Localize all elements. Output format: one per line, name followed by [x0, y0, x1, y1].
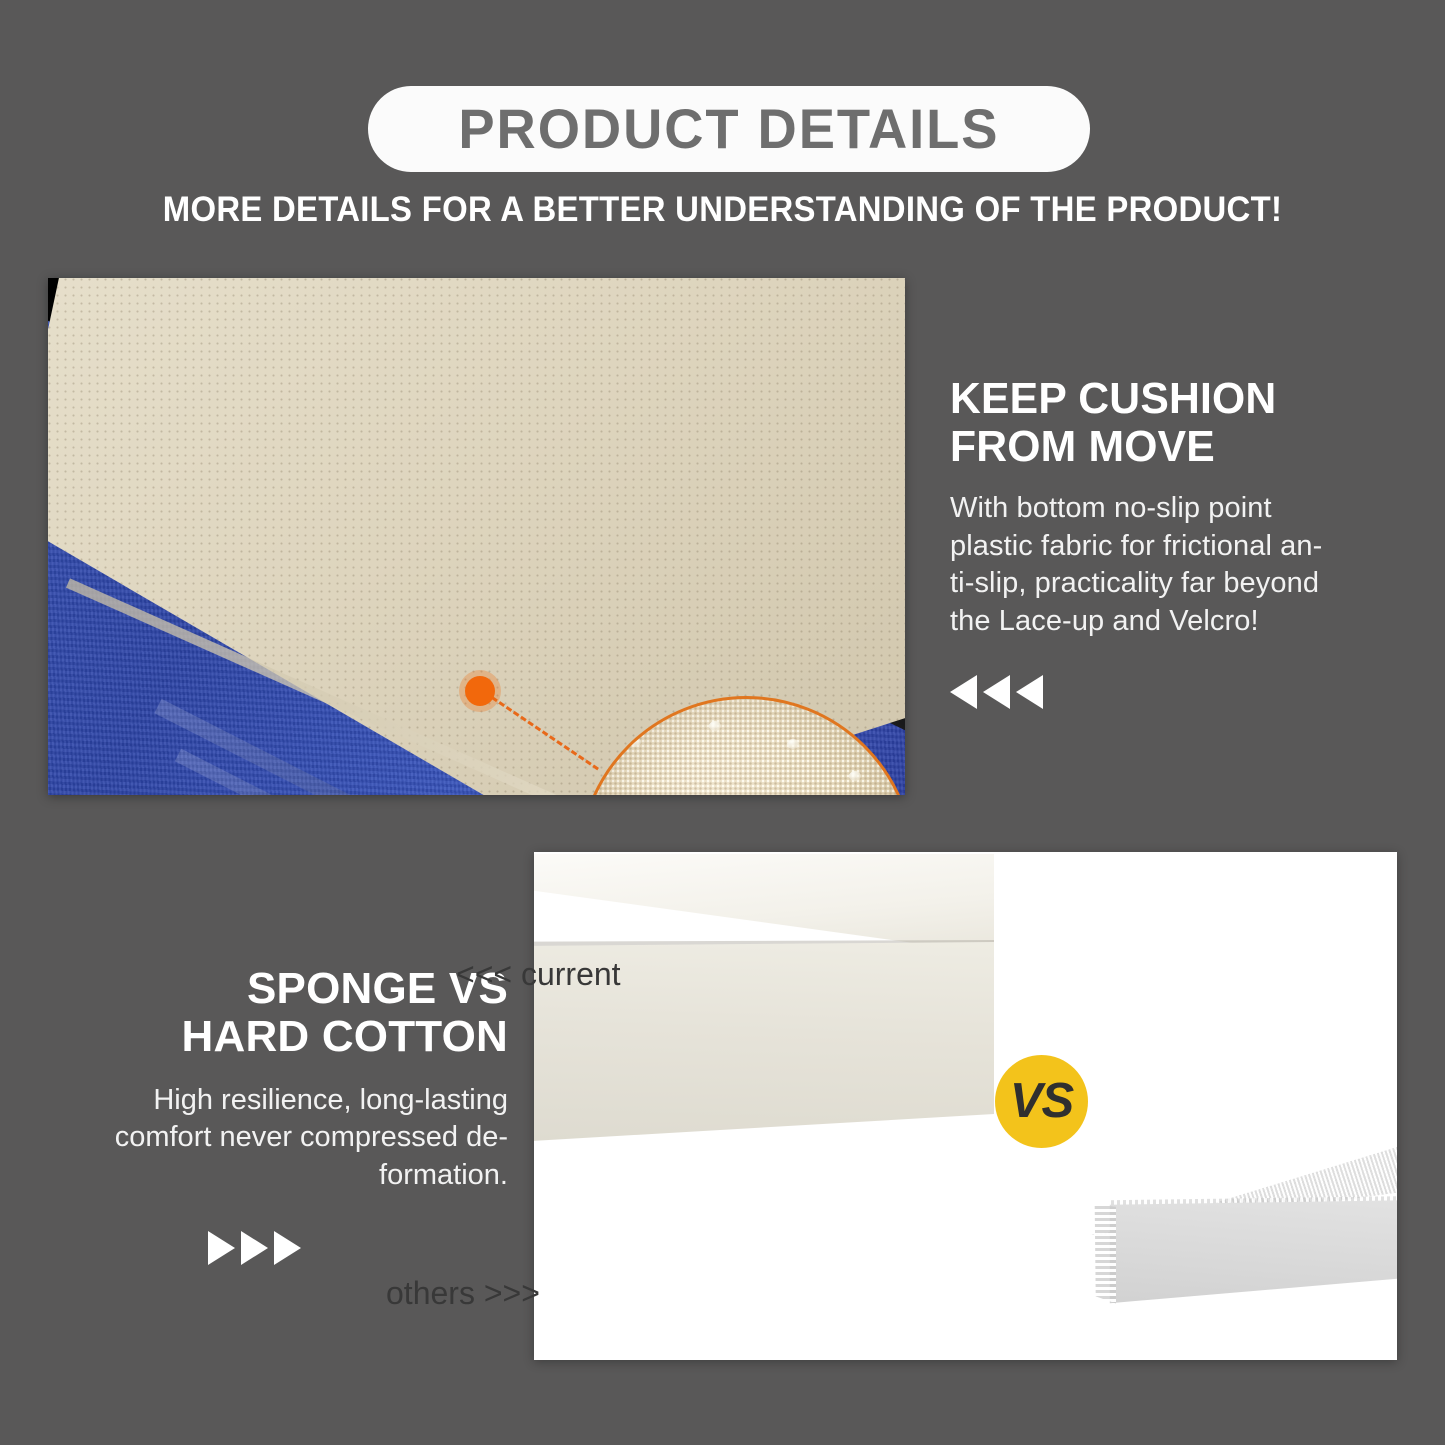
fabric-bump — [709, 721, 721, 731]
fabric-bump — [629, 737, 641, 747]
label-current: <<< current — [456, 956, 621, 993]
page-title-pill: PRODUCT DETAILS — [368, 86, 1090, 172]
section-body-line-2: plastic fabric for frictional an- — [950, 528, 1390, 566]
section-heading-line-1: KEEP CUSHION — [950, 375, 1377, 423]
callout-marker-dot-icon — [465, 676, 495, 706]
section-keep-cushion-from-move: KEEP CUSHION FROM MOVE With bottom no-sl… — [950, 375, 1390, 709]
product-details-infographic: PRODUCT DETAILS MORE DETAILS FOR A BETTE… — [0, 0, 1445, 1445]
fabric-bump — [787, 739, 799, 749]
section-body-line-2: comfort never compressed de- — [60, 1119, 508, 1157]
section-body-text: High resilience, long-lasting comfort ne… — [60, 1082, 508, 1195]
page-subtitle: MORE DETAILS FOR A BETTER UNDERSTANDING … — [43, 190, 1401, 230]
vs-badge-label: VS — [1010, 1077, 1073, 1126]
section-heading: SPONGE VS HARD COTTON — [60, 965, 508, 1062]
sponge-foam-top-face — [534, 854, 994, 954]
right-arrow-indicator — [60, 1231, 508, 1265]
fabric-bump — [849, 771, 861, 781]
section-heading-line-2: HARD COTTON — [60, 1013, 508, 1061]
section-heading: KEEP CUSHION FROM MOVE — [950, 375, 1377, 470]
sponge-vs-hard-cotton-photo: VS — [534, 852, 1397, 1360]
section-body-line-4: the Lace-up and Velcro! — [950, 603, 1390, 641]
triangle-right-icon — [208, 1231, 235, 1265]
triangle-left-icon — [1016, 675, 1043, 709]
section-heading-line-1: SPONGE VS — [60, 965, 508, 1013]
section-body-line-3: formation. — [60, 1157, 508, 1195]
section-body-text: With bottom no-slip point plastic fabric… — [950, 490, 1390, 641]
label-others: others >>> — [386, 1275, 540, 1312]
hard-cotton-front-face — [1090, 1200, 1397, 1320]
triangle-left-icon — [950, 675, 977, 709]
section-body-line-1: With bottom no-slip point — [950, 490, 1390, 528]
page-title: PRODUCT DETAILS — [458, 101, 999, 157]
section-body-line-1: High resilience, long-lasting — [60, 1082, 508, 1120]
section-heading-line-2: FROM MOVE — [950, 423, 1377, 471]
vs-badge: VS — [995, 1055, 1088, 1148]
section-body-line-3: ti-slip, practicality far beyond — [950, 565, 1390, 603]
triangle-left-icon — [983, 675, 1010, 709]
cushion-bottom-anti-slip-photo — [48, 278, 905, 795]
section-sponge-vs-hard-cotton: SPONGE VS HARD COTTON High resilience, l… — [60, 965, 508, 1265]
left-arrow-indicator — [950, 675, 1390, 709]
triangle-right-icon — [241, 1231, 268, 1265]
triangle-right-icon — [274, 1231, 301, 1265]
